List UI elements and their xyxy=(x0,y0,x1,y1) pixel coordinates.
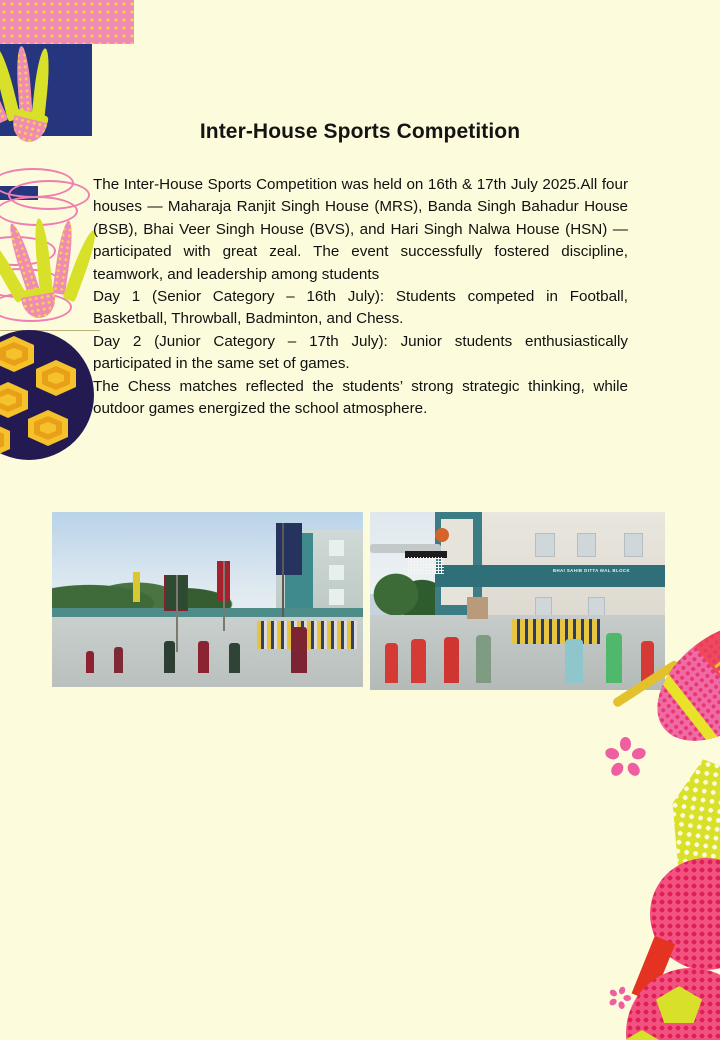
pink-coil-ring xyxy=(0,168,74,198)
article-body: The Inter-House Sports Competition was h… xyxy=(93,174,628,420)
pink-coil-ring xyxy=(0,236,56,266)
basketball xyxy=(435,528,449,542)
paddle-icon xyxy=(650,858,720,970)
paddle-neck-accent xyxy=(619,933,673,1010)
player-figure xyxy=(411,639,426,683)
student-figure xyxy=(114,647,123,673)
pink-coil-ring xyxy=(0,268,62,298)
student-figure xyxy=(198,641,209,673)
flower-small-icon xyxy=(612,990,622,1000)
paragraph-day-2: Day 2 (Junior Category – 17th July): Jun… xyxy=(93,331,628,376)
poster-page: Inter-House Sports Competition The Inter… xyxy=(0,0,720,1040)
player-figure xyxy=(641,641,654,683)
student-figure xyxy=(86,651,94,673)
navy-accent-bar xyxy=(0,186,38,200)
dotted-pink-rectangle xyxy=(0,0,134,44)
paragraph-intro: The Inter-House Sports Competition was h… xyxy=(93,174,628,286)
player-figure xyxy=(444,637,459,683)
building-name-label: BHAI SAHIB DITTA MAL BLOCK xyxy=(553,568,630,573)
player-figure xyxy=(385,643,398,683)
yellow-halftone-splash xyxy=(637,753,720,927)
page-title: Inter-House Sports Competition xyxy=(0,120,720,144)
paddle-handle xyxy=(632,936,676,1002)
thin-divider-line xyxy=(0,330,100,331)
pink-coil-ring xyxy=(8,180,90,210)
player-figure xyxy=(606,633,622,683)
paragraph-chess: The Chess matches reflected the students… xyxy=(93,376,628,421)
basketball-match-photo: BHAI SAHIB DITTA MAL BLOCK xyxy=(370,512,665,690)
player-figure xyxy=(476,635,491,683)
student-figure xyxy=(164,641,175,673)
yellow-flag xyxy=(133,572,140,602)
flower-large-icon xyxy=(612,744,640,772)
student-figure xyxy=(229,643,240,673)
student-figure xyxy=(291,627,307,673)
navy-flag xyxy=(276,523,302,575)
pink-coil-ring xyxy=(0,292,72,322)
pink-coil-ring xyxy=(0,196,78,226)
soccer-ball-bottom-right-icon xyxy=(626,968,720,1040)
player-figure xyxy=(565,639,583,683)
paragraph-day-1: Day 1 (Senior Category – 16th July): Stu… xyxy=(93,286,628,331)
soccer-ball-top-left-icon xyxy=(0,330,94,460)
flag-ceremony-photo xyxy=(52,512,363,687)
